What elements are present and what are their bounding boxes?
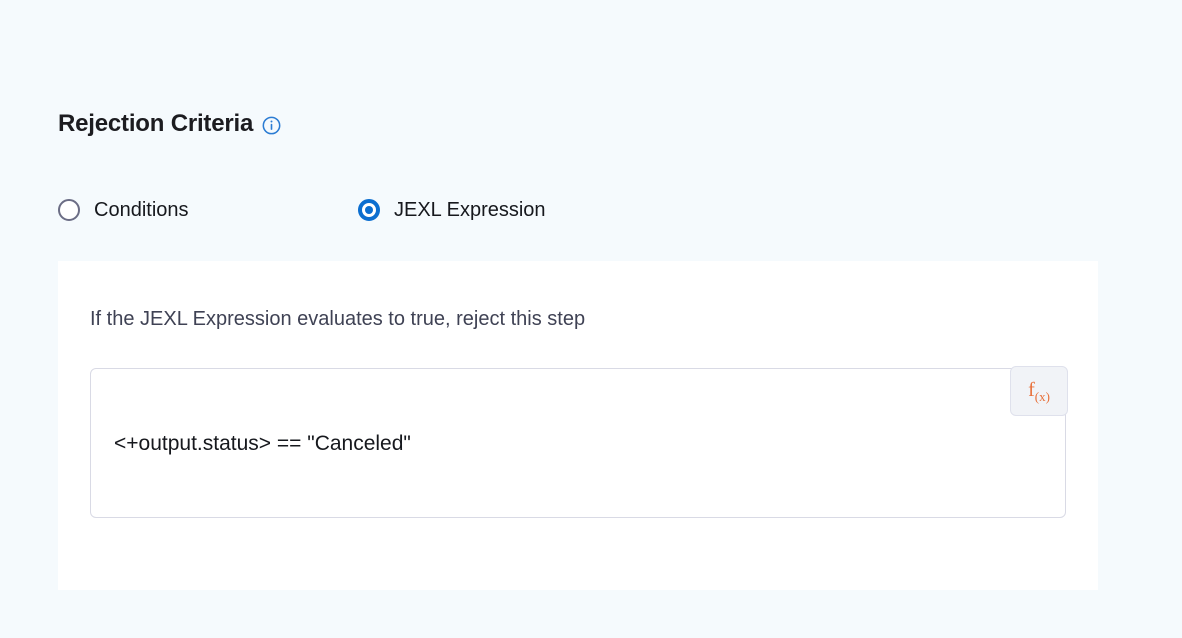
jexl-expression-input[interactable]: <+output.status> == "Canceled" [90, 368, 1066, 518]
info-circle-icon[interactable] [262, 113, 281, 135]
fx-label: f(x) [1028, 380, 1050, 403]
panel-description: If the JEXL Expression evaluates to true… [90, 306, 585, 332]
page-title: Rejection Criteria [58, 108, 253, 140]
radio-label-conditions: Conditions [94, 198, 189, 222]
radio-option-conditions[interactable]: Conditions [58, 198, 358, 222]
radio-label-jexl-expression: JEXL Expression [394, 198, 546, 222]
rejection-criteria-radio-group: Conditions JEXL Expression [58, 198, 546, 222]
function-fx-icon[interactable]: f(x) [1010, 366, 1068, 416]
section-header: Rejection Criteria [58, 108, 281, 140]
fx-label-sub: (x) [1035, 389, 1050, 404]
expression-editor-wrapper: <+output.status> == "Canceled" f(x) [90, 368, 1066, 518]
radio-button-jexl-expression[interactable] [358, 199, 380, 221]
radio-button-conditions[interactable] [58, 199, 80, 221]
jexl-expression-value[interactable]: <+output.status> == "Canceled" [114, 431, 411, 457]
fx-label-main: f [1028, 379, 1035, 401]
jexl-expression-panel: If the JEXL Expression evaluates to true… [58, 261, 1098, 590]
radio-option-jexl-expression[interactable]: JEXL Expression [358, 198, 546, 222]
